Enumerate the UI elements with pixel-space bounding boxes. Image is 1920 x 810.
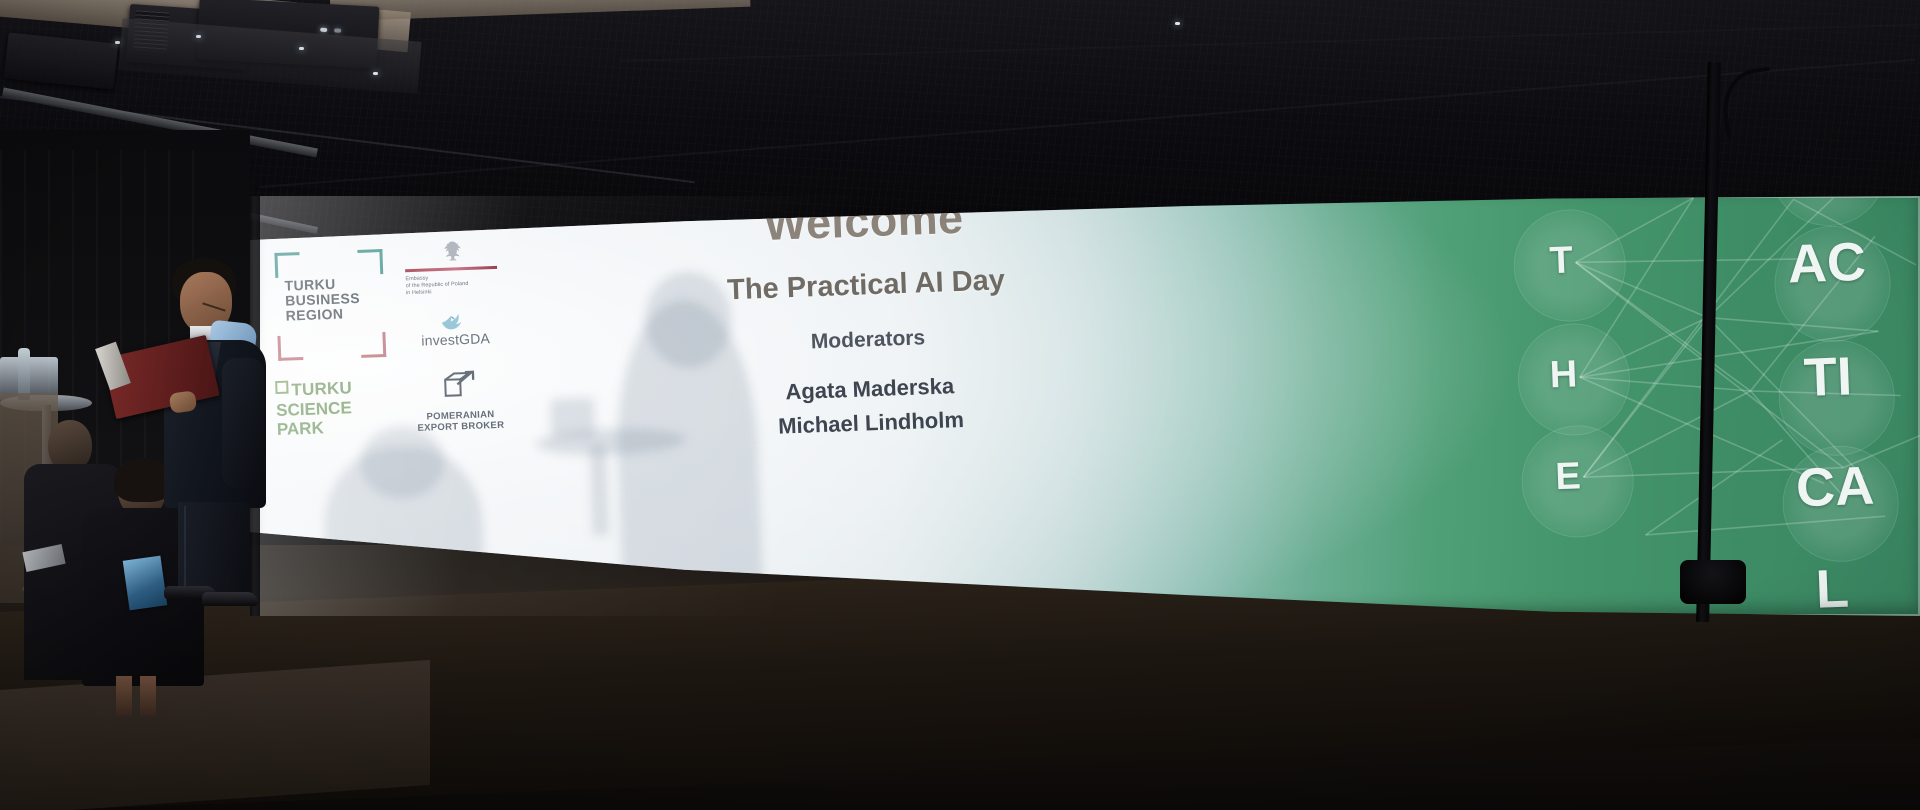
logo-line: TURKU xyxy=(291,378,352,399)
logo-line: EXPORT BROKER xyxy=(413,420,509,435)
turku-business-region-logo: TURKU BUSINESS REGION xyxy=(274,249,386,361)
network-glyph-ti: TI xyxy=(1803,345,1853,409)
ceiling-light-point xyxy=(373,72,378,75)
arrow-out-of-box-icon xyxy=(441,370,478,401)
status-led xyxy=(334,28,341,32)
bracket-top-right-icon xyxy=(357,249,383,275)
investgda-logo: investGDA xyxy=(409,309,502,349)
logo-line: REGION xyxy=(285,306,360,324)
network-glyph-t: T xyxy=(1549,239,1574,283)
ceiling-light-point xyxy=(196,35,201,38)
ceiling-light-point xyxy=(1175,22,1180,25)
embassy-text: Embassy of the Republic of Poland in Hel… xyxy=(405,273,502,298)
screen-support-pole-left xyxy=(250,196,260,616)
embassy-of-poland-logo: Embassy of the Republic of Poland in Hel… xyxy=(404,239,502,297)
tsp-square-icon xyxy=(275,381,288,394)
slide-content-plane: TURKU BUSINESS REGION Embassy of the Rep… xyxy=(250,196,1920,616)
conference-room-photo: TURKU BUSINESS REGION Embassy of the Rep… xyxy=(0,0,1920,810)
sponsor-logo-column: TURKU BUSINESS REGION Embassy of the Rep… xyxy=(266,235,515,504)
network-glyph-ac: AC xyxy=(1787,231,1867,296)
network-glyph-e: E xyxy=(1555,455,1582,499)
slide-title: Welcome xyxy=(603,196,1125,257)
embassy-red-bar xyxy=(405,266,497,272)
ceiling-light-point xyxy=(299,47,304,50)
led-video-wall: TURKU BUSINESS REGION Embassy of the Rep… xyxy=(250,196,1920,616)
bracket-bottom-left-icon xyxy=(277,335,303,361)
network-glyph-ca: CA xyxy=(1795,455,1875,520)
turku-science-park-logo: TURKU SCIENCE PARK xyxy=(275,376,417,439)
bracket-top-left-icon xyxy=(274,252,300,278)
logo-line: PARK xyxy=(277,415,418,439)
turku-business-region-text: TURKU BUSINESS REGION xyxy=(284,276,360,324)
investgda-label: investGDA xyxy=(409,330,502,349)
neural-network-graphic: T H E PR AC TI CA L xyxy=(1272,196,1920,578)
bird-icon xyxy=(440,310,471,331)
status-led xyxy=(320,28,327,32)
bracket-bottom-right-icon xyxy=(360,332,386,358)
network-glyph-l: L xyxy=(1815,558,1850,616)
network-glyph-h: H xyxy=(1549,353,1578,397)
ceiling-light-point xyxy=(115,41,120,44)
pole-base xyxy=(1680,560,1746,604)
shadow-bottles xyxy=(550,397,595,439)
slide-subtitle: The Practical AI Day xyxy=(576,259,1157,313)
led-screen-surface: TURKU BUSINESS REGION Embassy of the Rep… xyxy=(250,196,1920,616)
polish-eagle-icon xyxy=(441,240,464,265)
shadow-table-stem xyxy=(590,445,609,536)
pomeranian-export-broker-logo: POMERANIAN EXPORT BROKER xyxy=(411,369,509,434)
